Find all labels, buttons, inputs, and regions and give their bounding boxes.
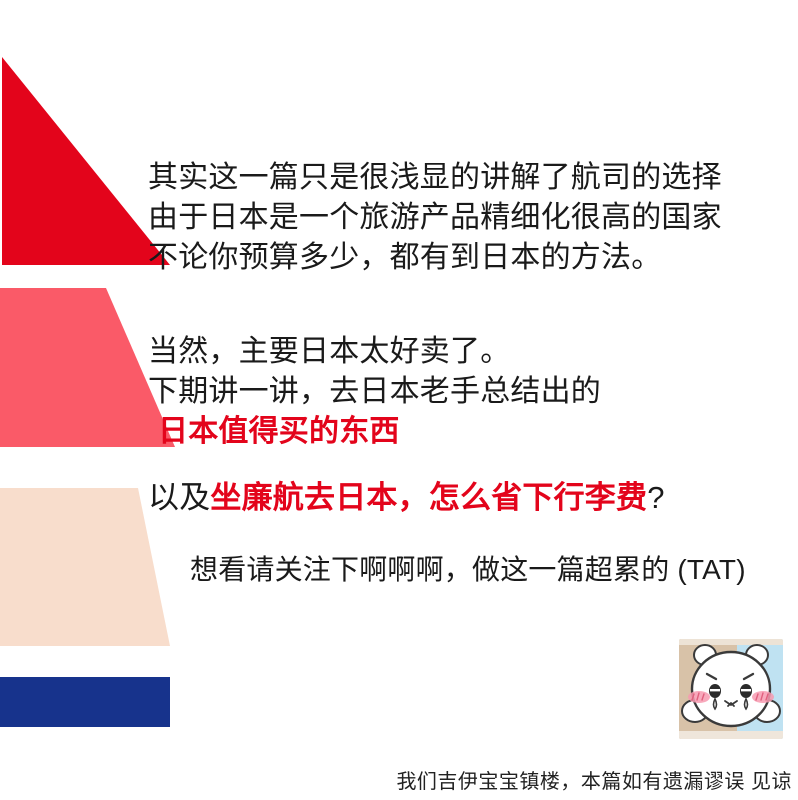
crying-bear-sticker <box>679 639 783 739</box>
topic-highlight: 坐廉航去日本，怎么省下行李费 <box>210 480 647 515</box>
pyramid-segment-beige <box>0 488 170 646</box>
sticker-bg-top-strip <box>679 639 783 645</box>
bear-left-eye-shine <box>710 689 720 691</box>
sticker-bg-bottom-strip <box>679 731 783 739</box>
crying-bear-illustration <box>679 639 783 739</box>
paragraph-topic: 以及坐廉航去日本，怎么省下行李费? <box>148 478 665 518</box>
paragraph-plea: 想看请关注下啊啊啊，做这一篇超累的 (TAT) <box>190 550 746 590</box>
topic-prefix: 以及 <box>148 480 210 515</box>
intro-line-1: 其实这一篇只是很浅显的讲解了航司的选择 <box>148 158 722 198</box>
paragraph-next-issue: 当然，主要日本太好卖了。 下期讲一讲，去日本老手总结出的 日本值得买的东西 <box>148 332 601 452</box>
plea-line: 想看请关注下啊啊啊，做这一篇超累的 (TAT) <box>190 550 746 590</box>
next-issue-line-2: 下期讲一讲，去日本老手总结出的 <box>148 372 601 412</box>
pyramid-segment-blue <box>0 677 170 727</box>
bear-right-eye-shine <box>741 689 751 691</box>
bear-right-tear <box>745 699 748 709</box>
topic-suffix: ? <box>647 480 664 515</box>
intro-line-2: 由于日本是一个旅游产品精细化很高的国家 <box>148 198 722 238</box>
intro-line-3: 不论你预算多少，都有到日本的方法。 <box>148 238 722 278</box>
bear-left-tear <box>714 699 717 709</box>
paragraph-intro: 其实这一篇只是很浅显的讲解了航司的选择 由于日本是一个旅游产品精细化很高的国家 … <box>148 158 722 278</box>
slide-canvas: 其实这一篇只是很浅显的讲解了航司的选择 由于日本是一个旅游产品精细化很高的国家 … <box>0 0 798 800</box>
next-issue-line-1: 当然，主要日本太好卖了。 <box>148 332 601 372</box>
next-issue-highlight: 日本值得买的东西 <box>148 412 601 452</box>
topic-line: 以及坐廉航去日本，怎么省下行李费? <box>148 478 665 518</box>
pyramid-segment-red <box>2 57 170 265</box>
bear-head <box>692 652 770 726</box>
bottom-caption: 我们吉伊宝宝镇楼，本篇如有遗漏谬误 见谅 <box>396 765 792 794</box>
